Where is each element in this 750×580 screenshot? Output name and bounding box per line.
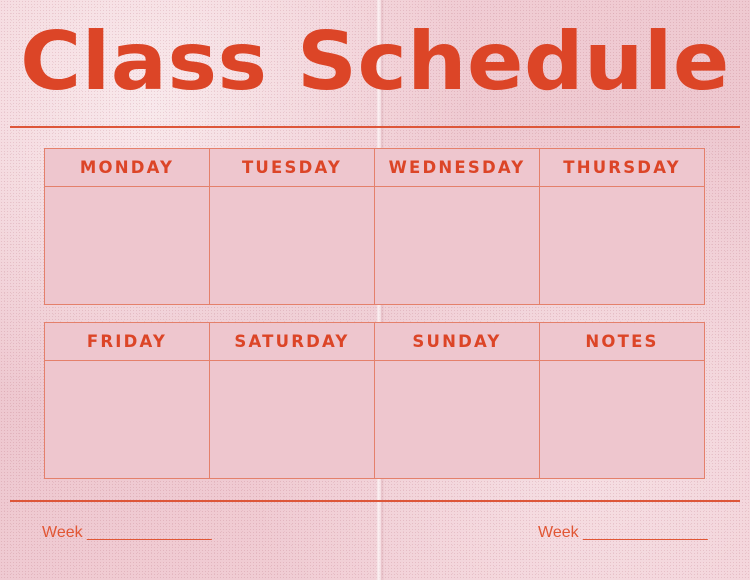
column-header-tuesday: TUESDAY	[210, 149, 375, 187]
divider-bottom	[10, 500, 740, 502]
page-title: Class Schedule	[0, 14, 750, 110]
week-field-left[interactable]: Week ______________	[42, 522, 212, 544]
cell-wednesday[interactable]	[375, 187, 540, 305]
column-header-monday: MONDAY	[45, 149, 210, 187]
column-header-sunday: SUNDAY	[375, 323, 540, 361]
cell-monday[interactable]	[45, 187, 210, 305]
column-header-friday: FRIDAY	[45, 323, 210, 361]
week-field-right[interactable]: Week ______________	[538, 522, 708, 544]
table-row	[45, 361, 705, 479]
table-row	[45, 187, 705, 305]
cell-tuesday[interactable]	[210, 187, 375, 305]
schedule-table-second-row: FRIDAY SATURDAY SUNDAY NOTES	[44, 322, 705, 479]
column-header-saturday: SATURDAY	[210, 323, 375, 361]
schedule-page: Class Schedule MONDAY TUESDAY WEDNESDAY …	[0, 0, 750, 580]
column-header-notes: NOTES	[540, 323, 705, 361]
schedule-table-first-row: MONDAY TUESDAY WEDNESDAY THURSDAY	[44, 148, 705, 305]
divider-top	[10, 126, 740, 128]
column-header-wednesday: WEDNESDAY	[375, 149, 540, 187]
cell-thursday[interactable]	[540, 187, 705, 305]
column-header-thursday: THURSDAY	[540, 149, 705, 187]
table-header-row: FRIDAY SATURDAY SUNDAY NOTES	[45, 323, 705, 361]
table-header-row: MONDAY TUESDAY WEDNESDAY THURSDAY	[45, 149, 705, 187]
cell-sunday[interactable]	[375, 361, 540, 479]
cell-friday[interactable]	[45, 361, 210, 479]
footer: Week ______________ Week ______________	[0, 510, 750, 570]
cell-notes[interactable]	[540, 361, 705, 479]
cell-saturday[interactable]	[210, 361, 375, 479]
